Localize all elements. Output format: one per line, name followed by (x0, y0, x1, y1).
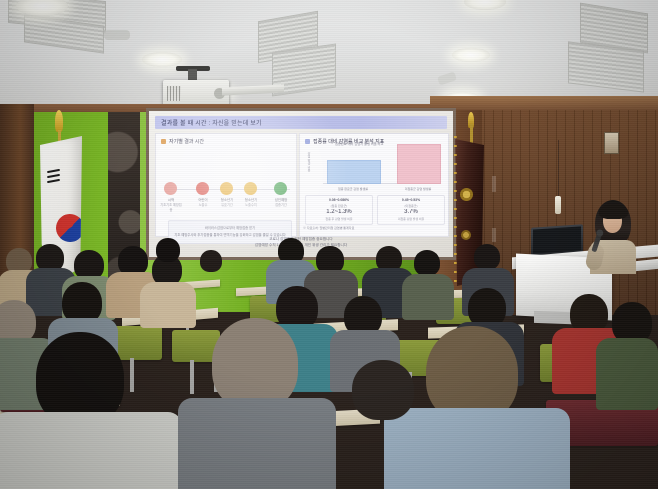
ceiling-projector (163, 80, 229, 107)
stat-b-subline: (미접종군) (378, 204, 444, 208)
audience-torso (402, 274, 454, 320)
stat-box-unvaccinated: 0.45~0.53% (미접종군) 3.7% 미접종 감염 발생 비율 (377, 195, 445, 225)
stat-b-headline: 0.45~0.53% (378, 198, 444, 202)
ceiling-speaker (104, 30, 130, 40)
projector-vent (167, 86, 181, 101)
bar-unvaccinated (397, 144, 441, 184)
audience-head (212, 318, 298, 410)
audience-torso (178, 398, 336, 489)
laptop-screen (533, 226, 581, 253)
audience-head (474, 244, 500, 270)
flag-emblem-icon-2 (461, 230, 471, 240)
audience-head (156, 238, 180, 262)
wall-seam (492, 176, 496, 192)
audience-head (200, 250, 222, 272)
ceiling-spotlight (437, 71, 457, 85)
audience-head (414, 250, 440, 276)
audience-torso (384, 408, 570, 489)
trigram-bar (47, 174, 60, 178)
ceiling-downlight (452, 48, 490, 62)
audience-torso (140, 282, 196, 328)
taeguk-symbol (51, 209, 88, 246)
screen-glare (149, 111, 349, 257)
audience-torso (0, 412, 182, 489)
stat-b-value: 3.7% (378, 209, 444, 215)
lecture-hall-photo: 결과를 볼 때 시간 : 자신을 믿는데 보기 자기별 결과 시간 시작 기초기… (0, 0, 658, 489)
female-presenter (586, 200, 640, 272)
ceiling-downlight (464, 0, 506, 10)
wall-sconce (604, 132, 619, 154)
flag-emblem-icon (460, 188, 473, 201)
ceiling-vent-panel (568, 41, 644, 92)
hanging-microphone (555, 196, 561, 214)
ceiling-downlight (142, 52, 182, 67)
bar-unvaccinated-label: 미접종군 감염 발생률 (397, 187, 439, 191)
projection-screen: 결과를 볼 때 시간 : 자신을 믿는데 보기 자기별 결과 시간 시작 기초기… (149, 111, 453, 257)
wall-seam (492, 228, 496, 242)
hanging-mic-wire (558, 140, 559, 198)
trigram-bar (47, 169, 60, 173)
audience-torso (596, 338, 658, 410)
chair-leg (130, 358, 134, 392)
presenter-bangs (599, 204, 628, 219)
flag-finial-icon (55, 110, 63, 132)
trigram-bar (47, 179, 60, 183)
audience-head (352, 360, 414, 420)
chair-leg (190, 360, 194, 394)
stat-b-footnote: 미접종 감염 발생 비율 (378, 217, 444, 221)
